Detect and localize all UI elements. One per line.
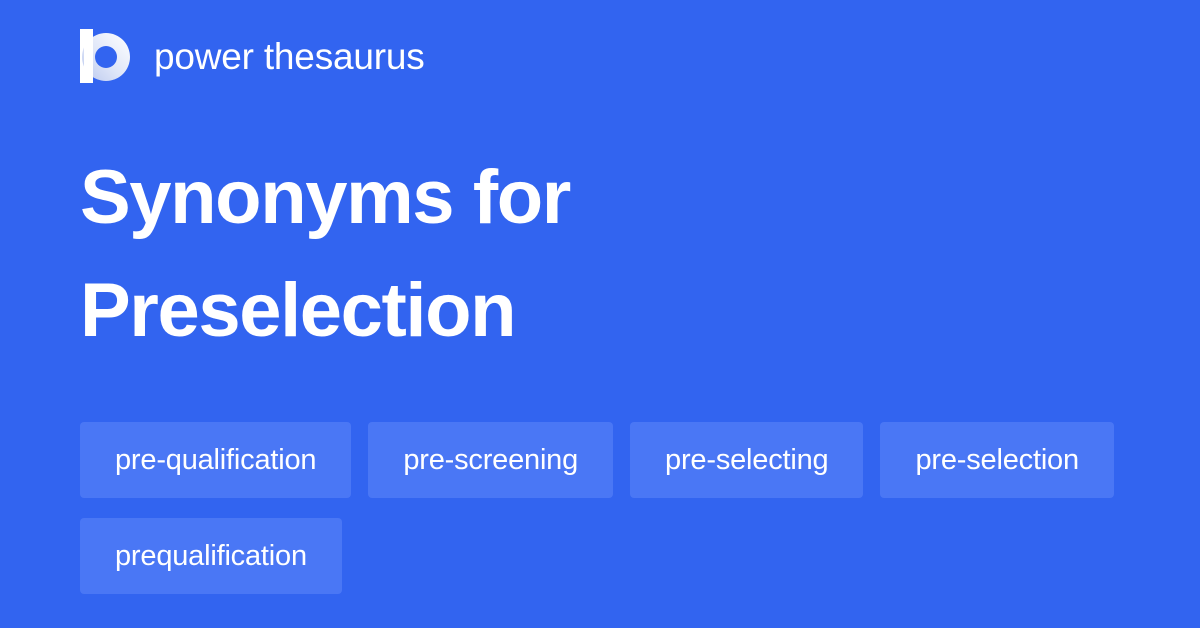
synonym-chip[interactable]: prequalification [80, 518, 342, 594]
synonym-chip[interactable]: pre-selecting [630, 422, 863, 498]
synonym-chip[interactable]: pre-screening [368, 422, 613, 498]
synonym-chip[interactable]: pre-selection [880, 422, 1113, 498]
share-card: power thesaurus Synonyms for Preselectio… [0, 0, 1200, 628]
page-title-line-1: Synonyms for [80, 141, 1080, 254]
synonym-chip[interactable]: pre-qualification [80, 422, 351, 498]
page-title: Synonyms for Preselection [80, 141, 1080, 367]
power-thesaurus-b-logo-icon [80, 29, 130, 83]
brand-name: power thesaurus [154, 38, 425, 75]
synonym-chip-list: pre-qualification pre-screening pre-sele… [80, 422, 1120, 594]
brand-header[interactable]: power thesaurus [80, 28, 425, 84]
page-title-line-2: Preselection [80, 254, 1080, 367]
